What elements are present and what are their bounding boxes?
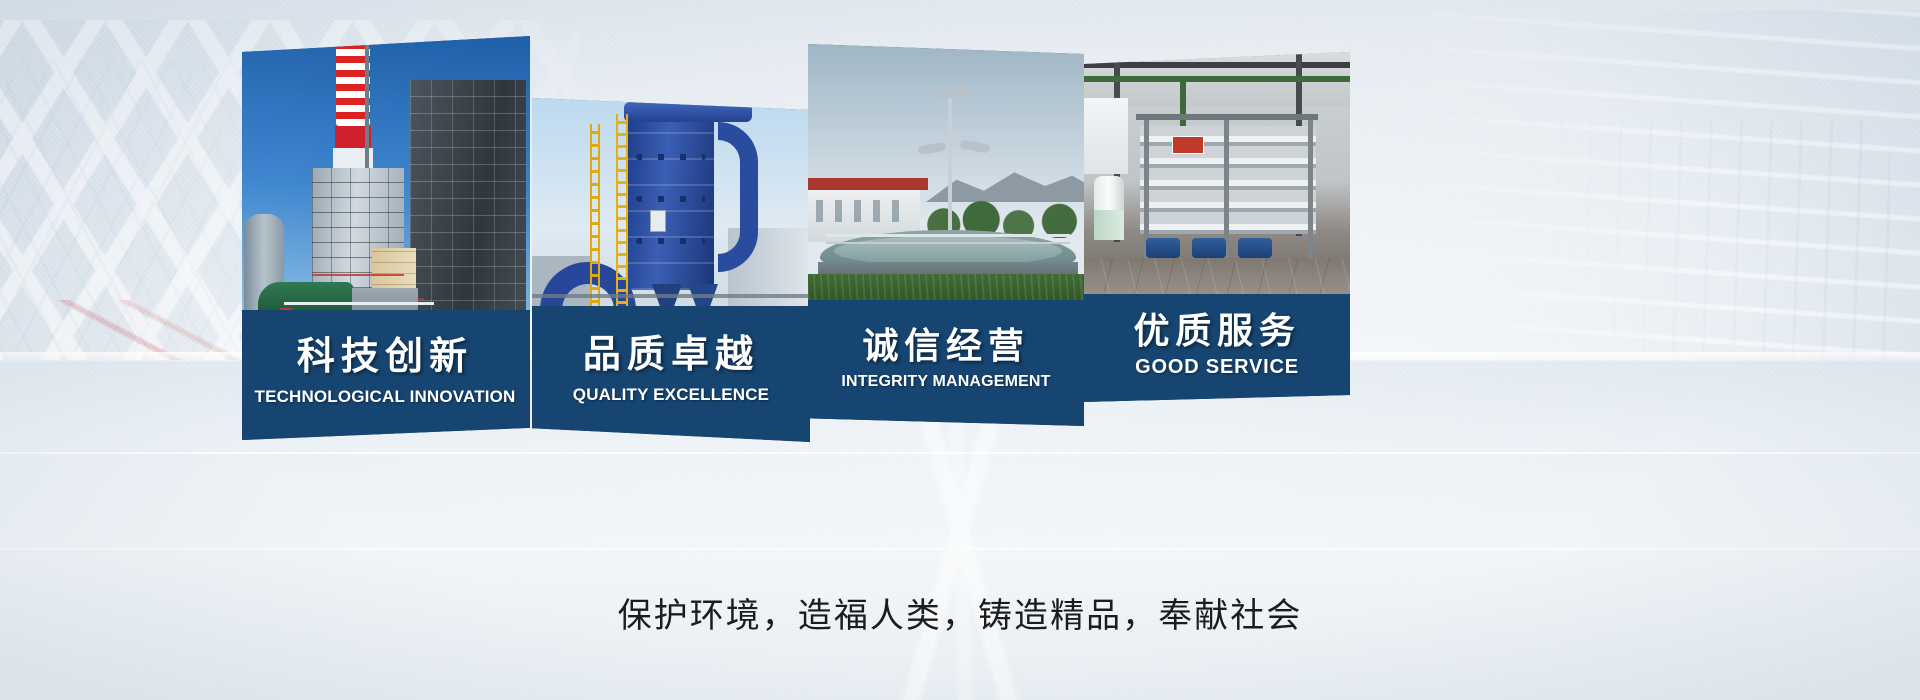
panel-title-en: TECHNOLOGICAL INNOVATION bbox=[255, 388, 516, 405]
panel-caption-quality-excellence: 品质卓越 QUALITY EXCELLENCE bbox=[532, 306, 810, 442]
panel-title-zh: 优质服务 bbox=[1133, 313, 1300, 349]
panel-caption-good-service: 优质服务 GOOD SERVICE bbox=[1084, 294, 1350, 402]
panel-integrity-management[interactable]: 诚信经营 INTEGRITY MANAGEMENT bbox=[808, 44, 1084, 426]
panel-title-zh: 科技创新 bbox=[297, 338, 473, 376]
panel-title-en: QUALITY EXCELLENCE bbox=[573, 386, 769, 403]
panel-title-zh: 品质卓越 bbox=[583, 336, 759, 374]
panel-title-en: GOOD SERVICE bbox=[1135, 357, 1299, 377]
panel-photo-chimney-plant bbox=[240, 36, 530, 318]
panel-technological-innovation[interactable]: 科技创新 TECHNOLOGICAL INNOVATION bbox=[240, 36, 530, 440]
panel-good-service[interactable]: 优质服务 GOOD SERVICE bbox=[1084, 52, 1350, 402]
banner-tagline: 保护环境，造福人类，铸造精品，奉献社会 bbox=[0, 588, 1920, 637]
panel-caption-integrity-management: 诚信经营 INTEGRITY MANAGEMENT bbox=[808, 300, 1084, 426]
panel-quality-excellence[interactable]: 品质卓越 QUALITY EXCELLENCE bbox=[532, 98, 810, 442]
panel-photo-wastewater-plant bbox=[808, 44, 1084, 308]
panel-caption-technological-innovation: 科技创新 TECHNOLOGICAL INNOVATION bbox=[240, 310, 530, 440]
banner-stage: 科技创新 TECHNOLOGICAL INNOVATION bbox=[0, 0, 1920, 700]
panel-photo-ro-membrane-room bbox=[1084, 52, 1350, 300]
panel-photo-dust-collector bbox=[532, 98, 810, 316]
panel-title-zh: 诚信经营 bbox=[862, 328, 1029, 364]
panel-title-en: INTEGRITY MANAGEMENT bbox=[841, 374, 1050, 390]
